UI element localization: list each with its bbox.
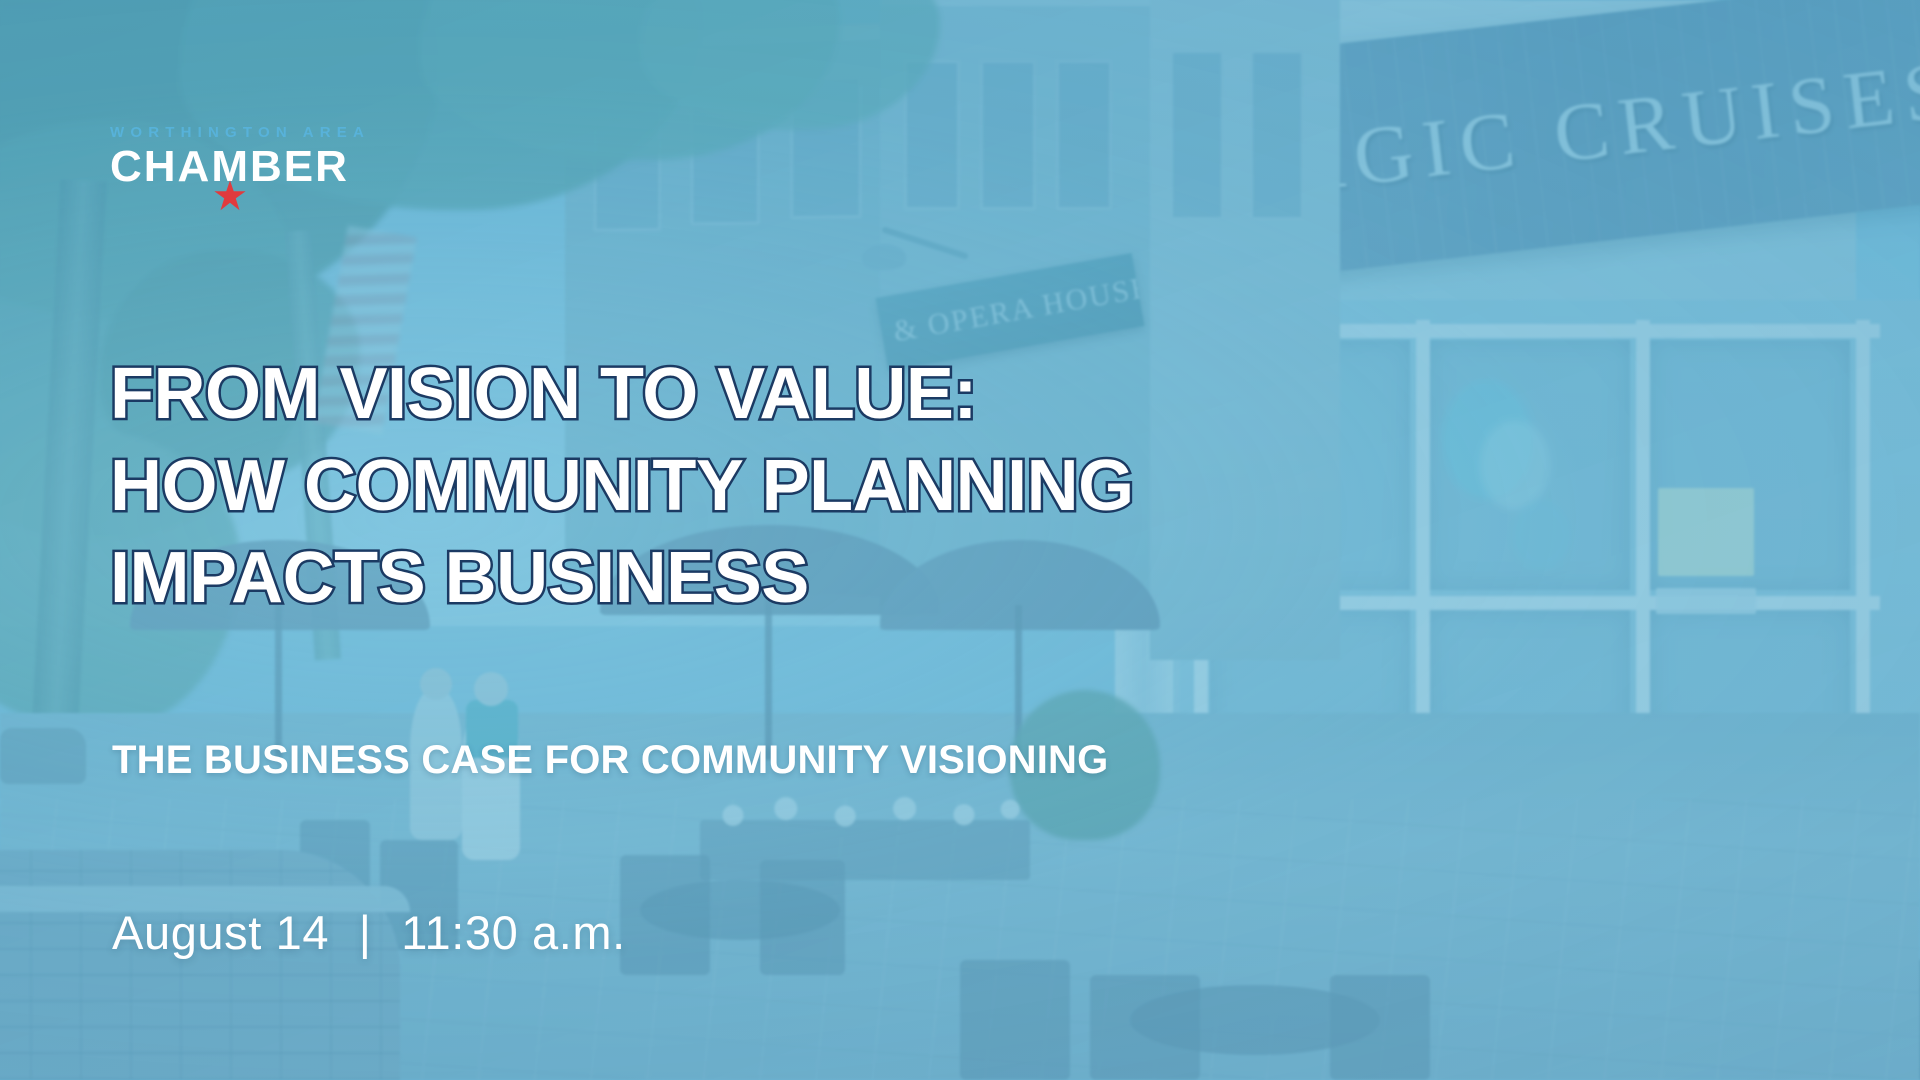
logo-wordmark: CHAMBER <box>110 145 410 189</box>
event-time: 11:30 a.m. <box>401 906 626 959</box>
headline-line-3: IMPACTS BUSINESS <box>110 532 1530 624</box>
graphic-content: WORTHINGTON AREA CHAMBER FROM VISION TO … <box>0 0 1920 1080</box>
event-promo-graphic: MAGIC CRUISES <box>0 0 1920 1080</box>
page-title: FROM VISION TO VALUE: HOW COMMUNITY PLAN… <box>110 348 1530 624</box>
datetime-separator: | <box>343 906 388 959</box>
headline-line-2: HOW COMMUNITY PLANNING <box>110 440 1530 532</box>
logo-kicker: WORTHINGTON AREA <box>110 124 410 141</box>
red-star-icon <box>213 179 247 213</box>
page-subtitle: THE BUSINESS CASE FOR COMMUNITY VISIONIN… <box>112 738 1612 783</box>
event-datetime: August 14 | 11:30 a.m. <box>112 905 626 960</box>
chamber-logo: WORTHINGTON AREA CHAMBER <box>110 124 410 191</box>
logo-wordmark-row: CHAMBER <box>110 145 410 191</box>
headline-line-1: FROM VISION TO VALUE: <box>110 348 1530 440</box>
event-date: August 14 <box>112 906 329 959</box>
